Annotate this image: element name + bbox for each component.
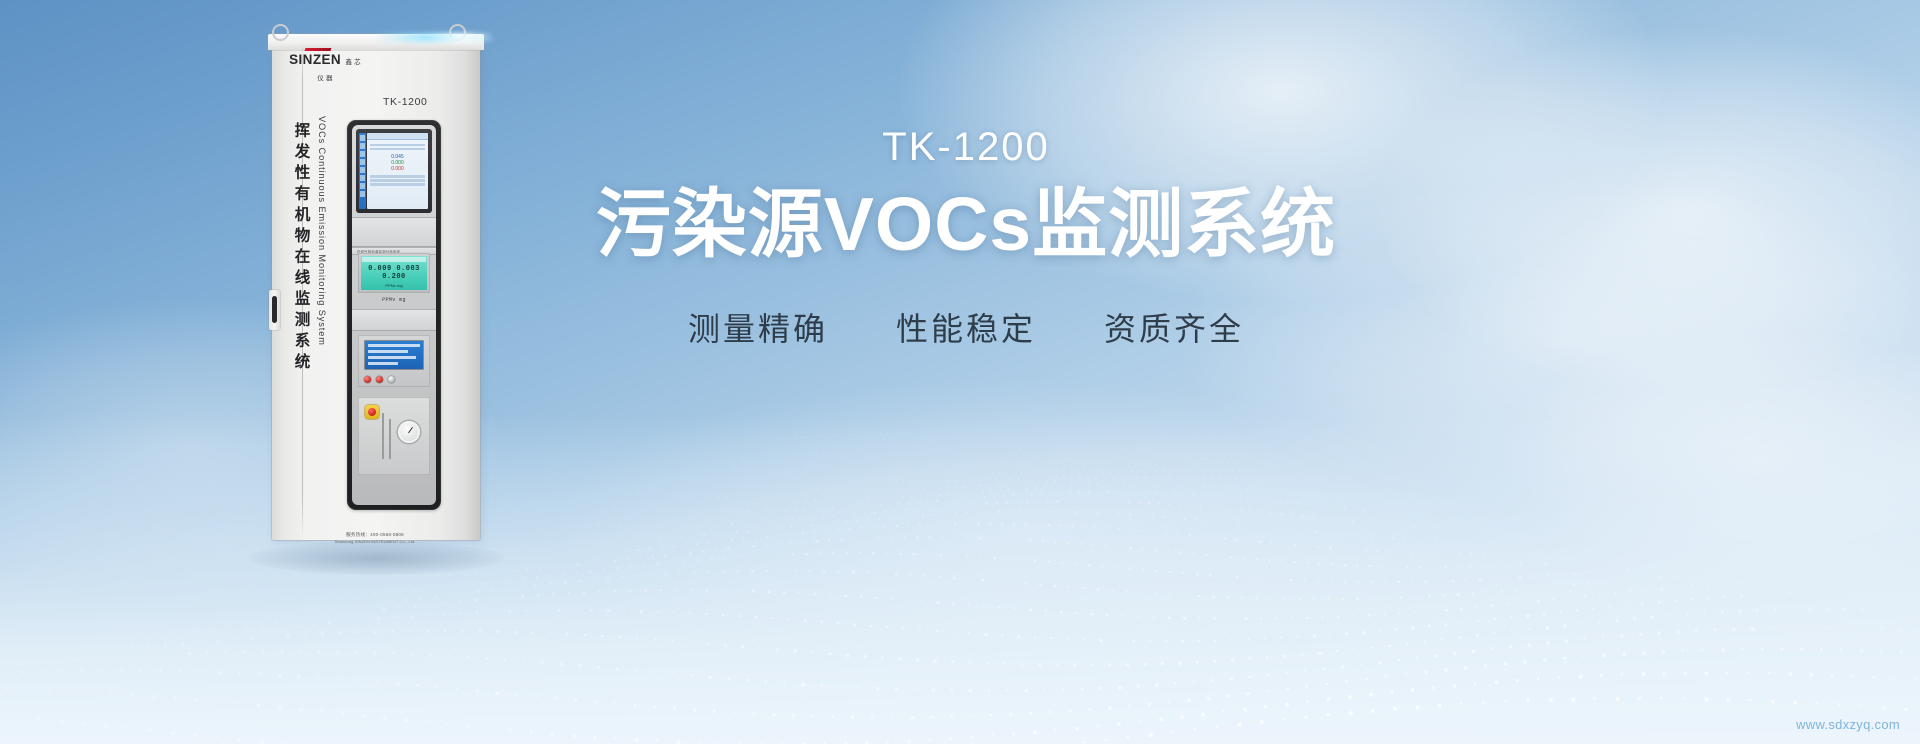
model-number-text: TK-1200	[556, 125, 1376, 169]
hmi-touch-panel[interactable]: 0.045 0.000 0.000	[356, 129, 432, 213]
banner-headline: 污染源VOCs监测系统	[556, 183, 1376, 266]
cabinet-door-handle	[269, 290, 280, 330]
cabinet-footer-text: 服务热线：400-0568-0806 Shandong SINZEN INSTR…	[255, 532, 495, 545]
analyzer-reading: 0.009 0.003 0.200	[361, 265, 427, 281]
lcd-row	[368, 356, 416, 359]
lifting-eyelet-icon	[272, 24, 289, 41]
site-watermark: www.sdxzyq.com	[1796, 717, 1900, 732]
brand-mark-icon	[305, 48, 332, 51]
hmi-rows-lower	[367, 172, 428, 190]
analyzer-screen: 0.009 0.003 0.200 PPMv mg	[361, 256, 427, 290]
feature-item-1: 测量精确	[688, 304, 828, 350]
module-band-middle	[352, 309, 436, 331]
instrument-window: 0.045 0.000 0.000 在线气相色谱监测分析系统	[347, 120, 441, 510]
hmi-screen[interactable]: 0.045 0.000 0.000	[367, 133, 428, 209]
analyzer-unit: PPMv mg	[361, 283, 427, 288]
analyzer-sub-note: PPMv mg	[352, 297, 436, 303]
hmi-rows	[367, 140, 428, 154]
analyzer-header-bar	[362, 257, 426, 262]
cabinet-vertical-chinese-text: 挥发性有机物在线监测系统	[293, 122, 309, 374]
lcd-row	[368, 344, 420, 347]
emergency-stop-icon[interactable]	[365, 405, 379, 419]
controller-lcd-screen	[364, 340, 424, 370]
cabinet-shadow	[249, 541, 504, 575]
instrument-stack: 0.045 0.000 0.000 在线气相色谱监测分析系统	[352, 125, 436, 505]
feature-item-3: 资质齐全	[1104, 304, 1244, 350]
cloud-decoration	[1380, 30, 1920, 390]
start-knob[interactable]	[364, 376, 371, 383]
controller-knob-row[interactable]	[364, 376, 395, 383]
lcd-row	[368, 350, 408, 353]
cabinet-footer-en: Shandong SINZEN INSTRUMENT Co., Ltd.	[255, 539, 495, 545]
cabinet-model-label: TK-1200	[383, 96, 427, 108]
cloud-decoration	[1500, 330, 1920, 590]
feature-item-2: 性能稳定	[896, 304, 1036, 350]
cabinet-footer-cn: 服务热线：400-0568-0806	[255, 532, 495, 539]
light-streak-decoration	[373, 33, 493, 42]
stop-knob[interactable]	[376, 376, 383, 383]
feature-list: 测量精确 性能稳定 资质齐全	[556, 304, 1376, 350]
gas-tube	[389, 419, 391, 459]
module-band-upper	[352, 217, 436, 247]
cloud-decoration	[560, 380, 1460, 680]
product-banner: SINZEN 鑫芯仪器 TK-1200 挥发性有机物在线监测系统 VOCs Co…	[0, 0, 1920, 744]
cabinet-vertical-english-text: VOCs Continuous Emission Monitoring Syst…	[317, 116, 327, 346]
controller-module	[358, 335, 430, 387]
gas-tube	[382, 413, 384, 459]
brand-wordmark: SINZEN	[289, 52, 341, 67]
carrier-gas-control-module	[358, 397, 430, 475]
banner-copy-block: TK-1200 污染源VOCs监测系统 测量精确 性能稳定 资质齐全	[556, 125, 1376, 350]
pressure-gauge-icon	[398, 421, 420, 443]
product-cabinet-image: SINZEN 鑫芯仪器 TK-1200 挥发性有机物在线监测系统 VOCs Co…	[255, 22, 495, 567]
lcd-row	[368, 362, 398, 365]
reset-knob[interactable]	[388, 376, 395, 383]
analyzer-display-module: 0.009 0.003 0.200 PPMv mg	[358, 253, 430, 293]
brand-logo: SINZEN 鑫芯仪器	[289, 48, 363, 84]
hmi-side-menu[interactable]	[359, 133, 366, 209]
hmi-title-bar	[367, 133, 428, 140]
